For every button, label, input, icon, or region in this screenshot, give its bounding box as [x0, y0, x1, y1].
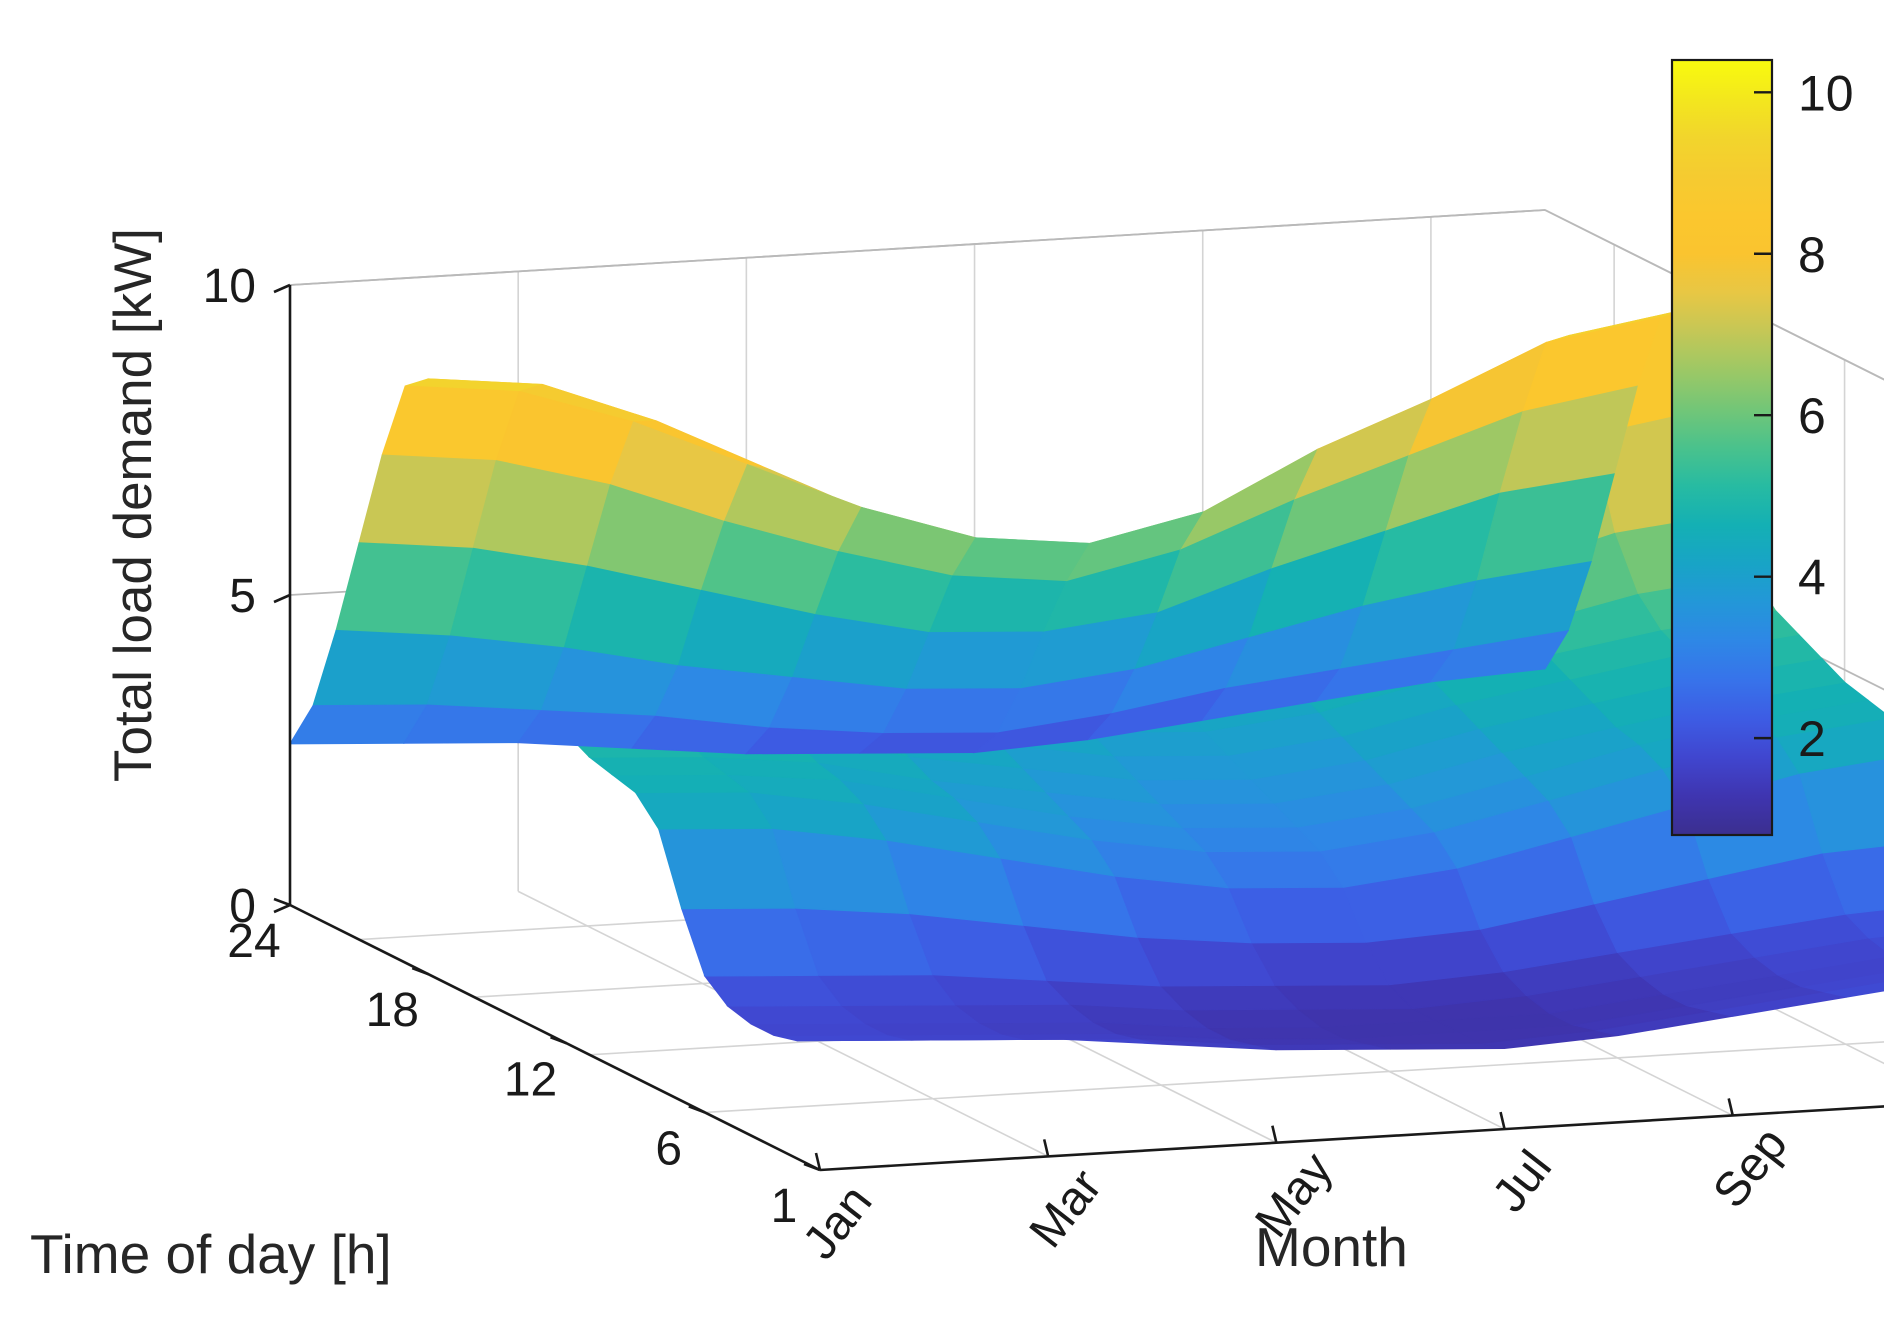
svg-text:Sep: Sep — [1703, 1118, 1797, 1218]
figure-canvas: 051024181261JanMarMayJulSepNov 246810 To… — [0, 0, 1884, 1331]
svg-text:24: 24 — [227, 915, 280, 968]
svg-text:10: 10 — [1798, 65, 1854, 121]
svg-text:Mar: Mar — [1020, 1160, 1113, 1258]
surface-plot: 051024181261JanMarMayJulSepNov 246810 — [0, 0, 1884, 1331]
svg-text:1: 1 — [771, 1180, 798, 1233]
svg-text:8: 8 — [1798, 227, 1826, 283]
svg-text:2: 2 — [1798, 711, 1826, 767]
svg-text:Jan: Jan — [793, 1176, 882, 1270]
svg-text:18: 18 — [366, 984, 419, 1037]
svg-text:10: 10 — [203, 260, 256, 313]
svg-text:Jul: Jul — [1483, 1141, 1563, 1222]
svg-text:12: 12 — [504, 1053, 557, 1106]
svg-text:4: 4 — [1798, 550, 1826, 606]
svg-text:5: 5 — [229, 570, 256, 623]
svg-text:6: 6 — [655, 1122, 682, 1175]
svg-text:6: 6 — [1798, 388, 1826, 444]
surface-mesh — [290, 310, 1884, 1050]
svg-text:May: May — [1245, 1143, 1343, 1247]
